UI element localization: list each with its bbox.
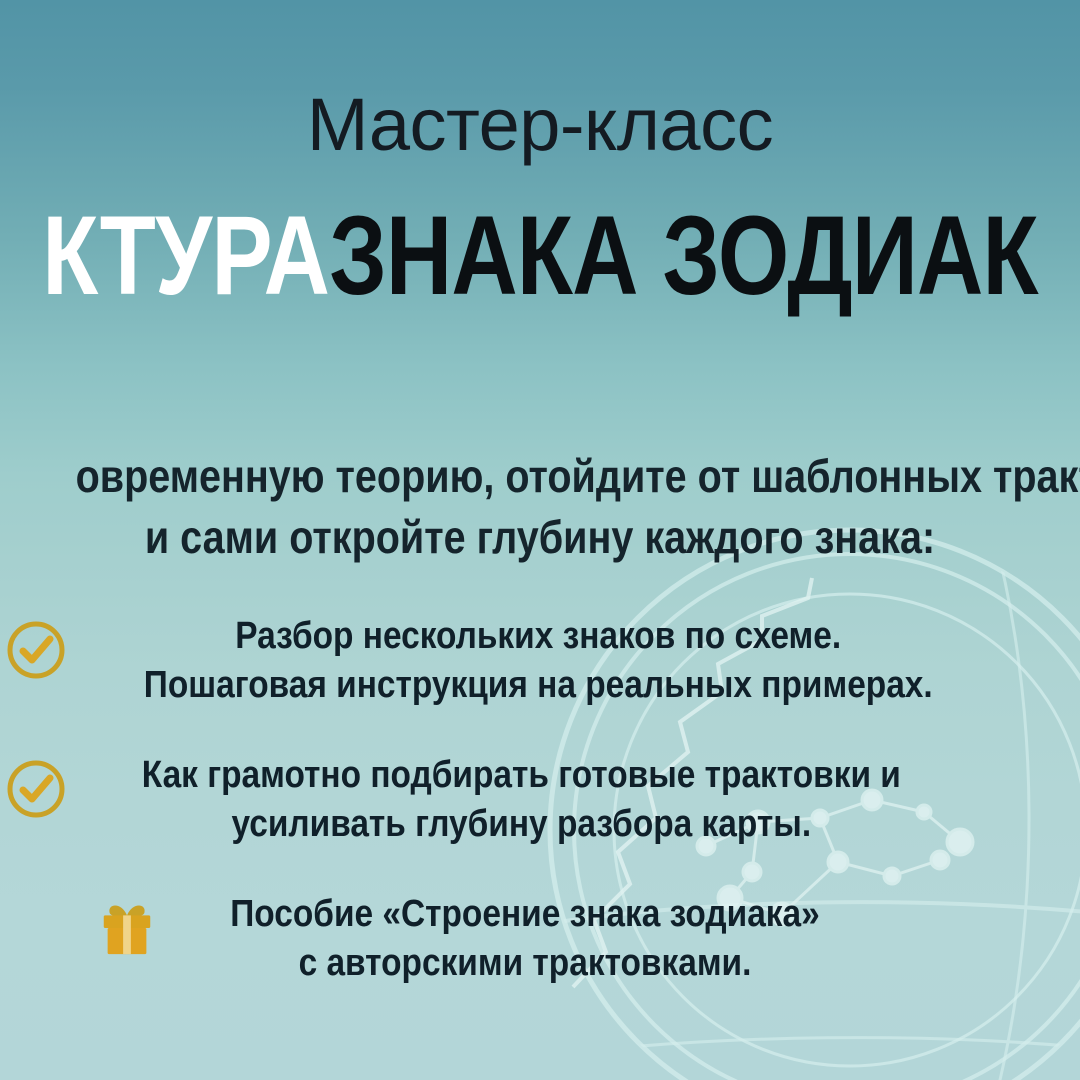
subtitle-line-1: овременную теорию, отойдите от шаблонных… [76,446,1005,507]
check-circle-icon [4,757,68,821]
page-title-part-white: КТУРА [42,193,329,318]
check-circle-icon [4,618,68,682]
list-item: Как грамотно подбирать готовые трактовки… [0,751,1000,850]
list-item-text: Разбор нескольких знаков по схеме. Пошаг… [90,612,1027,711]
list-item-line-2: усиливать глубину разбора карты. [142,800,901,849]
list-item-line-1: Разбор нескольких знаков по схеме. [144,612,933,661]
gift-icon [96,896,158,958]
page-title-part-black: ЗНАКА ЗОДИАК [329,193,1038,318]
list-item-line-1: Пособие «Строение знака зодиака» [221,890,828,939]
list-item-line-2: с авторскими трактовками. [221,939,828,988]
page-title: КТУРАЗНАКА ЗОДИАК [0,196,1080,317]
list-item-line-2: Пошаговая инструкция на реальных примера… [144,661,933,710]
list-item-text: Пособие «Строение знака зодиака» с автор… [180,890,1000,989]
list-item: Разбор нескольких знаков по схеме. Пошаг… [0,612,1000,711]
subtitle: овременную теорию, отойдите от шаблонных… [0,446,1080,567]
kicker-text: Мастер-класс [0,88,1080,162]
list-item-line-1: Как грамотно подбирать готовые трактовки… [142,751,901,800]
list-item: Пособие «Строение знака зодиака» с автор… [0,890,1000,989]
page-title-inner: КТУРАЗНАКА ЗОДИАК [42,196,1038,317]
subtitle-line-2: и сами откройте глубину каждого знака: [76,507,1005,568]
slide-root: Мастер-класс КТУРАЗНАКА ЗОДИАК овременну… [0,0,1080,1080]
list-item-text: Как грамотно подбирать готовые трактовки… [90,751,1023,850]
benefits-list: Разбор нескольких знаков по схеме. Пошаг… [0,612,1000,988]
